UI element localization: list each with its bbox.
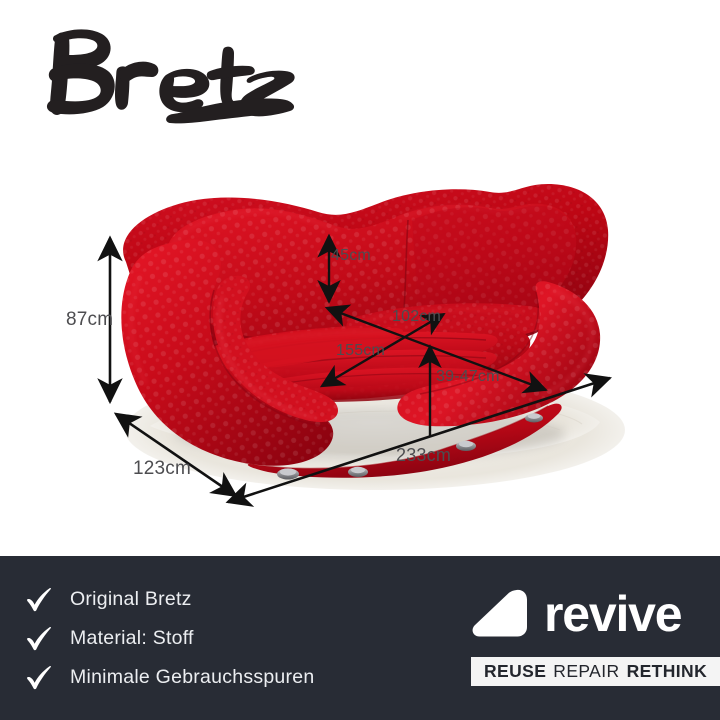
dimension-label-seat-height: 39-47cm (436, 369, 500, 385)
feature-label: Material: Stoff (70, 627, 194, 650)
dimension-label-backrest: 45cm (331, 248, 371, 264)
check-icon (26, 586, 52, 612)
feature-item-material: Material: Stoff (26, 622, 440, 655)
footer-bar: Original Bretz Material: Stoff Minimale … (0, 556, 720, 720)
revive-wordmark: revive (544, 589, 681, 639)
tagline-repair: REPAIR (553, 663, 619, 681)
revive-lockup: revive (470, 586, 681, 642)
dimension-label-width: 233cm (396, 446, 451, 464)
dimension-label-seat-width: 155cm (336, 343, 385, 359)
check-icon (26, 625, 52, 651)
revive-leaf-icon (470, 586, 530, 642)
feature-label: Minimale Gebrauchsspuren (70, 666, 314, 689)
dimension-label-height: 87cm (66, 310, 113, 329)
bretz-brand-logo (18, 14, 298, 129)
revive-tagline: REUSE REPAIR RETHINK (471, 657, 720, 686)
product-listing-image: 87cm 123cm 45cm 102cm 155cm 39-47cm 233c… (0, 0, 720, 720)
feature-item-original: Original Bretz (26, 583, 440, 616)
feature-item-condition: Minimale Gebrauchsspuren (26, 661, 440, 694)
dimension-label-depth: 123cm (133, 459, 191, 478)
tagline-reuse: REUSE (484, 663, 546, 681)
tagline-rethink: RETHINK (627, 663, 708, 681)
check-icon (26, 664, 52, 690)
feature-label: Original Bretz (70, 588, 192, 611)
revive-branding: revive REUSE REPAIR RETHINK (440, 556, 720, 720)
dimension-label-seat-depth: 102cm (392, 309, 441, 325)
feature-list: Original Bretz Material: Stoff Minimale … (0, 583, 440, 694)
